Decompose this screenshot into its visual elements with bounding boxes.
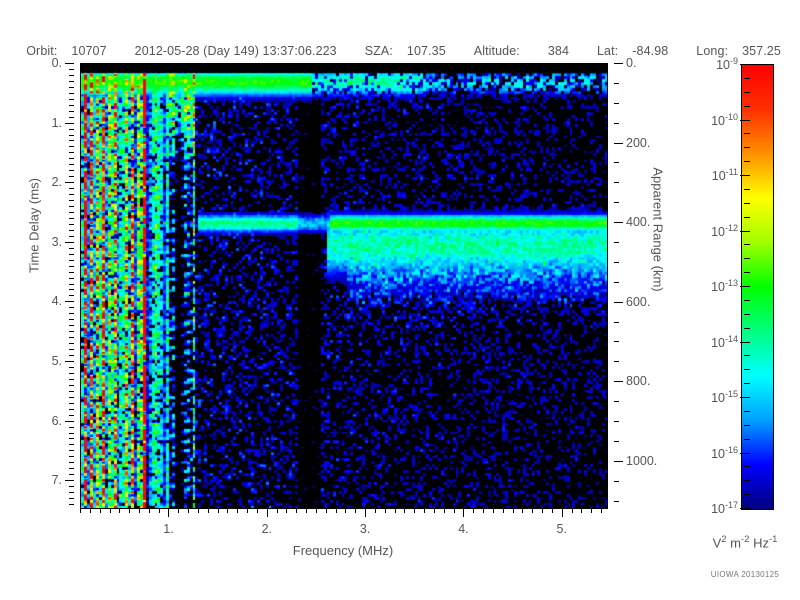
y-minor-tick (69, 254, 74, 255)
x-minor-tick (385, 508, 386, 513)
x-minor-tick (139, 508, 140, 513)
y-minor-tick (69, 111, 74, 112)
y-minor-tick (69, 176, 74, 177)
colorbar-minor-tick (744, 466, 750, 467)
y2-minor-tick (614, 501, 619, 502)
y-minor-tick (69, 337, 74, 338)
y-minor-tick (69, 427, 74, 428)
y2-major-tick (614, 63, 623, 64)
y-minor-tick (69, 87, 74, 88)
x-minor-tick (149, 508, 150, 513)
x-major-tick (562, 508, 563, 517)
colorbar-major-tick (740, 120, 750, 121)
header-metadata-line: Orbit:107072012-05-28 (Day 149) 13:37:06… (0, 30, 800, 58)
y-minor-tick (69, 194, 74, 195)
colorbar-tick-label: 10-14 (711, 333, 738, 349)
lat-label: Lat: (597, 44, 618, 58)
y2-tick-label: 400. (626, 215, 650, 229)
y-major-tick (65, 123, 74, 124)
x-minor-tick (483, 508, 484, 513)
time-delay-axis-label: Time Delay (ms) (27, 26, 42, 426)
x-minor-tick (247, 508, 248, 513)
y-minor-tick (69, 260, 74, 261)
colorbar-major-tick (740, 231, 750, 232)
colorbar-minor-tick (744, 383, 750, 384)
y-major-tick (65, 421, 74, 422)
colorbar-major-tick (740, 64, 750, 65)
y2-minor-tick (614, 282, 619, 283)
y-minor-tick (69, 468, 74, 469)
x-minor-tick (296, 508, 297, 513)
y-minor-tick (69, 135, 74, 136)
y-minor-tick (69, 81, 74, 82)
colorbar-minor-tick (744, 133, 750, 134)
colorbar-major-tick (740, 453, 750, 454)
colorbar-minor-tick (744, 328, 750, 329)
x-minor-tick (90, 508, 91, 513)
x-minor-tick (286, 508, 287, 513)
colorbar-major-tick (740, 508, 750, 509)
y-minor-tick (69, 266, 74, 267)
colorbar-major-tick (740, 286, 750, 287)
x-minor-tick (355, 508, 356, 513)
colorbar-minor-tick (744, 78, 750, 79)
x-major-tick (168, 508, 169, 517)
institution-credit: UIOWA 20130125 (690, 570, 800, 579)
y-minor-tick (69, 349, 74, 350)
colorbar-minor-tick (744, 272, 750, 273)
y-minor-tick (69, 140, 74, 141)
y2-minor-tick (614, 361, 619, 362)
y-tick-label: 0. (52, 56, 62, 70)
y-minor-tick (69, 248, 74, 249)
y-minor-tick (69, 415, 74, 416)
colorbar-minor-tick (744, 147, 750, 148)
colorbar-tick-label: 10-10 (711, 111, 738, 127)
colorbar-major-tick (740, 397, 750, 398)
colorbar-major-tick (740, 175, 750, 176)
y2-minor-tick (614, 182, 619, 183)
x-minor-tick (572, 508, 573, 513)
spectral-density-colorbar[interactable] (741, 64, 774, 510)
sza-label: SZA: (365, 44, 393, 58)
y-minor-tick (69, 319, 74, 320)
altitude-label: Altitude: (474, 44, 520, 58)
x-major-tick (463, 508, 464, 517)
y-minor-tick (69, 385, 74, 386)
y-minor-tick (69, 152, 74, 153)
y-minor-tick (69, 99, 74, 100)
x-minor-tick (503, 508, 504, 513)
colorbar-minor-tick (744, 439, 750, 440)
frequency-axis-label: Frequency (MHz) (80, 543, 606, 558)
colorbar-tick-labels: 10-910-1010-1110-1210-1310-1410-1510-161… (660, 64, 738, 508)
y-minor-tick (69, 307, 74, 308)
y-minor-tick (69, 75, 74, 76)
y-minor-tick (69, 474, 74, 475)
y2-minor-tick (614, 441, 619, 442)
x-minor-tick (375, 508, 376, 513)
x-minor-tick (237, 508, 238, 513)
x-minor-tick (591, 508, 592, 513)
x-minor-tick (188, 508, 189, 513)
x-major-tick (365, 508, 366, 517)
colorbar-tick-label: 10-11 (712, 167, 738, 183)
y2-minor-tick (614, 401, 619, 402)
x-major-tick (267, 508, 268, 517)
colorbar-minor-tick (744, 161, 750, 162)
observation-datetime: 2012-05-28 (Day 149) 13:37:06.223 (135, 44, 337, 58)
y-minor-tick (69, 391, 74, 392)
colorbar-tick-label: 10-17 (711, 500, 738, 516)
x-tick-label: 3. (360, 522, 370, 536)
y-minor-tick (69, 218, 74, 219)
y-minor-tick (69, 206, 74, 207)
y-tick-label: 3. (52, 235, 62, 249)
y-minor-tick (69, 129, 74, 130)
y2-minor-tick (614, 103, 619, 104)
y-minor-tick (69, 200, 74, 201)
y-minor-tick (69, 325, 74, 326)
y-minor-tick (69, 343, 74, 344)
frequency-axis: 1.2.3.4.5. (80, 522, 606, 542)
x-minor-tick (493, 508, 494, 513)
x-minor-tick (395, 508, 396, 513)
x-minor-tick (581, 508, 582, 513)
y-tick-label: 1. (52, 116, 62, 130)
y-minor-tick (69, 433, 74, 434)
y-minor-tick (69, 397, 74, 398)
y-minor-tick (69, 498, 74, 499)
x-minor-tick (434, 508, 435, 513)
y-minor-tick (69, 212, 74, 213)
y-minor-tick (69, 456, 74, 457)
colorbar-minor-tick (744, 425, 750, 426)
y2-tick-label: 0. (626, 56, 636, 70)
x-minor-tick (454, 508, 455, 513)
y-minor-tick (69, 278, 74, 279)
y-minor-tick (69, 146, 74, 147)
x-minor-tick (178, 508, 179, 513)
y-minor-tick (69, 272, 74, 273)
colorbar-minor-tick (744, 189, 750, 190)
colorbar-minor-tick (744, 369, 750, 370)
y-minor-tick (69, 230, 74, 231)
y-minor-tick (69, 188, 74, 189)
y-minor-tick (69, 438, 74, 439)
y-minor-tick (69, 403, 74, 404)
y-minor-tick (69, 224, 74, 225)
x-minor-tick (345, 508, 346, 513)
x-minor-tick (257, 508, 258, 513)
x-minor-tick (218, 508, 219, 513)
y2-minor-tick (614, 123, 619, 124)
y-minor-tick (69, 450, 74, 451)
x-minor-tick (424, 508, 425, 513)
x-minor-tick (336, 508, 337, 513)
colorbar-minor-tick (744, 258, 750, 259)
y-minor-tick (69, 486, 74, 487)
y2-minor-tick (614, 481, 619, 482)
y-minor-tick (69, 93, 74, 94)
y-major-tick (65, 480, 74, 481)
colorbar-tick-label: 10-13 (711, 278, 738, 294)
y-tick-label: 5. (52, 354, 62, 368)
y2-tick-label: 600. (626, 295, 650, 309)
x-minor-tick (316, 508, 317, 513)
y2-major-tick (614, 381, 623, 382)
y-tick-label: 4. (52, 294, 62, 308)
colorbar-unit-label: V2 m-2 Hz-1 (690, 534, 800, 550)
x-minor-tick (552, 508, 553, 513)
colorbar-major-tick (740, 342, 750, 343)
y2-minor-tick (614, 322, 619, 323)
y-minor-tick (69, 164, 74, 165)
y2-minor-tick (614, 262, 619, 263)
y-minor-tick (69, 289, 74, 290)
y2-minor-tick (614, 202, 619, 203)
y-minor-tick (69, 492, 74, 493)
x-tick-label: 2. (262, 522, 272, 536)
y-minor-tick (69, 105, 74, 106)
y-minor-tick (69, 355, 74, 356)
colorbar-minor-tick (744, 314, 750, 315)
y-minor-tick (69, 117, 74, 118)
x-minor-tick (100, 508, 101, 513)
y2-minor-tick (614, 341, 619, 342)
y-minor-tick (69, 379, 74, 380)
x-tick-label: 1. (163, 522, 173, 536)
y-minor-tick (69, 158, 74, 159)
y2-major-tick (614, 302, 623, 303)
y2-minor-tick (614, 242, 619, 243)
y-tick-label: 7. (52, 473, 62, 487)
x-minor-tick (326, 508, 327, 513)
long-value: 357.25 (742, 44, 781, 58)
x-tick-label: 4. (458, 522, 468, 536)
colorbar-minor-tick (744, 244, 750, 245)
x-minor-tick (414, 508, 415, 513)
colorbar-tick-label: 10-16 (711, 444, 738, 460)
altitude-value: 384 (548, 44, 569, 58)
colorbar-minor-tick (744, 480, 750, 481)
colorbar-minor-tick (744, 203, 750, 204)
x-minor-tick (601, 508, 602, 513)
sza-value: 107.35 (407, 44, 446, 58)
colorbar-minor-tick (744, 92, 750, 93)
spectrogram-heatmap (81, 64, 607, 508)
y-major-tick (65, 63, 74, 64)
ionogram-plot-area[interactable] (80, 63, 608, 509)
y-minor-tick (69, 409, 74, 410)
colorbar-minor-tick (744, 355, 750, 356)
y2-tick-label: 200. (626, 136, 650, 150)
y-minor-tick (69, 284, 74, 285)
x-minor-tick (444, 508, 445, 513)
y-minor-tick (69, 367, 74, 368)
y2-tick-label: 800. (626, 374, 650, 388)
y2-major-tick (614, 222, 623, 223)
x-minor-tick (208, 508, 209, 513)
x-minor-tick (473, 508, 474, 513)
colorbar-minor-tick (744, 411, 750, 412)
y-major-tick (65, 301, 74, 302)
y2-minor-tick (614, 83, 619, 84)
y2-minor-tick (614, 162, 619, 163)
x-minor-tick (227, 508, 228, 513)
y-minor-tick (69, 462, 74, 463)
y2-major-tick (614, 461, 623, 462)
x-minor-tick (277, 508, 278, 513)
y-minor-tick (69, 170, 74, 171)
x-minor-tick (80, 508, 81, 513)
x-minor-tick (404, 508, 405, 513)
y-minor-tick (69, 69, 74, 70)
x-minor-tick (522, 508, 523, 513)
y2-minor-tick (614, 421, 619, 422)
y2-tick-label: 1000. (626, 454, 657, 468)
x-minor-tick (198, 508, 199, 513)
colorbar-tick-label: 10-12 (711, 222, 738, 238)
y-tick-label: 6. (52, 414, 62, 428)
x-tick-label: 5. (557, 522, 567, 536)
y-minor-tick (69, 331, 74, 332)
y-minor-tick (69, 295, 74, 296)
colorbar-minor-tick (744, 300, 750, 301)
y-major-tick (65, 182, 74, 183)
x-minor-tick (532, 508, 533, 513)
x-minor-tick (159, 508, 160, 513)
y-minor-tick (69, 236, 74, 237)
orbit-value: 10707 (71, 44, 106, 58)
colorbar-minor-tick (744, 217, 750, 218)
y-minor-tick (69, 373, 74, 374)
y2-major-tick (614, 143, 623, 144)
y-minor-tick (69, 313, 74, 314)
x-minor-tick (129, 508, 130, 513)
colorbar-tick-label: 10-9 (716, 56, 738, 72)
y-major-tick (65, 361, 74, 362)
x-minor-tick (513, 508, 514, 513)
x-minor-tick (542, 508, 543, 513)
colorbar-gradient (742, 65, 773, 509)
y-minor-tick (69, 444, 74, 445)
y-minor-tick (69, 504, 74, 505)
x-minor-tick (110, 508, 111, 513)
colorbar-minor-tick (744, 106, 750, 107)
y-major-tick (65, 242, 74, 243)
colorbar-minor-tick (744, 494, 750, 495)
y-tick-label: 2. (52, 175, 62, 189)
x-minor-tick (119, 508, 120, 513)
colorbar-tick-label: 10-15 (711, 389, 738, 405)
x-minor-tick (306, 508, 307, 513)
